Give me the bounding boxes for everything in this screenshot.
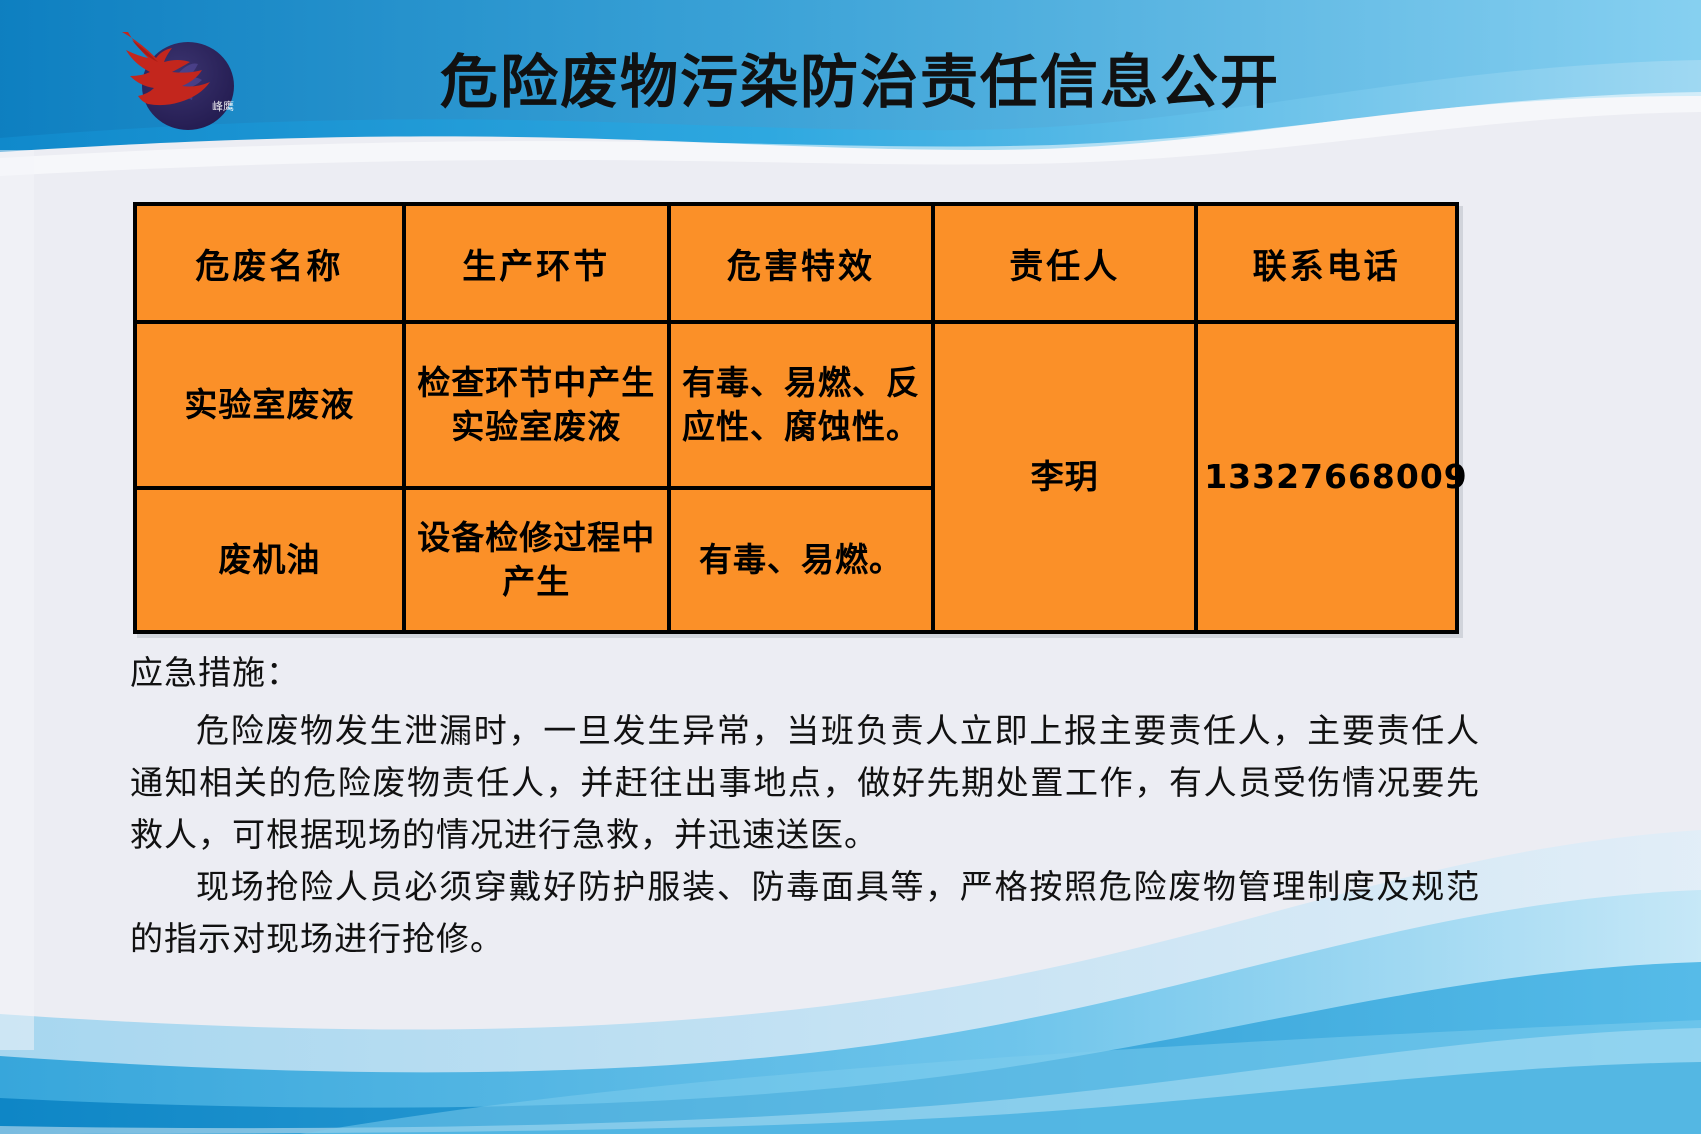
svg-text:峰鹰: 峰鹰 (212, 99, 234, 113)
column-header-phone: 联系电话 (1196, 204, 1457, 322)
cell-responsible-person: 李玥 (933, 322, 1196, 632)
eagle-logo: 峰鹰 (108, 18, 278, 136)
column-header-process: 生产环节 (404, 204, 669, 322)
slide-canvas: 峰鹰 危险废物污染防治责任信息公开 危废名称 生产环节 危害特效 责任人 联系电… (0, 0, 1701, 1134)
cell-process: 设备检修过程中产生 (404, 488, 669, 632)
column-header-waste-name: 危废名称 (135, 204, 404, 322)
cell-contact-phone: 13327668009 (1196, 322, 1457, 632)
cell-hazard: 有毒、易燃、反应性、腐蚀性。 (669, 322, 934, 488)
emergency-paragraph-2: 现场抢险人员必须穿戴好防护服装、防毒面具等，严格按照危险废物管理制度及规范的指示… (130, 862, 1480, 966)
cell-waste-name: 实验室废液 (135, 322, 404, 488)
page-title: 危险废物污染防治责任信息公开 (330, 48, 1390, 116)
emergency-measures-block: 应急措施： 危险废物发生泄漏时，一旦发生异常，当班负责人立即上报主要责任人，主要… (130, 648, 1480, 966)
column-header-hazard: 危害特效 (669, 204, 934, 322)
slide-header: 峰鹰 危险废物污染防治责任信息公开 (0, 0, 1701, 160)
table-row: 实验室废液 检查环节中产生实验室废液 有毒、易燃、反应性、腐蚀性。 李玥 133… (135, 322, 1457, 488)
cell-waste-name: 废机油 (135, 488, 404, 632)
table-header-row: 危废名称 生产环节 危害特效 责任人 联系电话 (135, 204, 1457, 322)
column-header-person: 责任人 (933, 204, 1196, 322)
emergency-paragraph-1: 危险废物发生泄漏时，一旦发生异常，当班负责人立即上报主要责任人，主要责任人通知相… (130, 706, 1480, 862)
cell-process: 检查环节中产生实验室废液 (404, 322, 669, 488)
hazardous-waste-table: 危废名称 生产环节 危害特效 责任人 联系电话 实验室废液 检查环节中产生实验室… (133, 202, 1459, 634)
hazardous-waste-table-wrap: 危废名称 生产环节 危害特效 责任人 联系电话 实验室废液 检查环节中产生实验室… (133, 202, 1459, 634)
emergency-heading: 应急措施： (130, 648, 1480, 700)
cell-hazard: 有毒、易燃。 (669, 488, 934, 632)
